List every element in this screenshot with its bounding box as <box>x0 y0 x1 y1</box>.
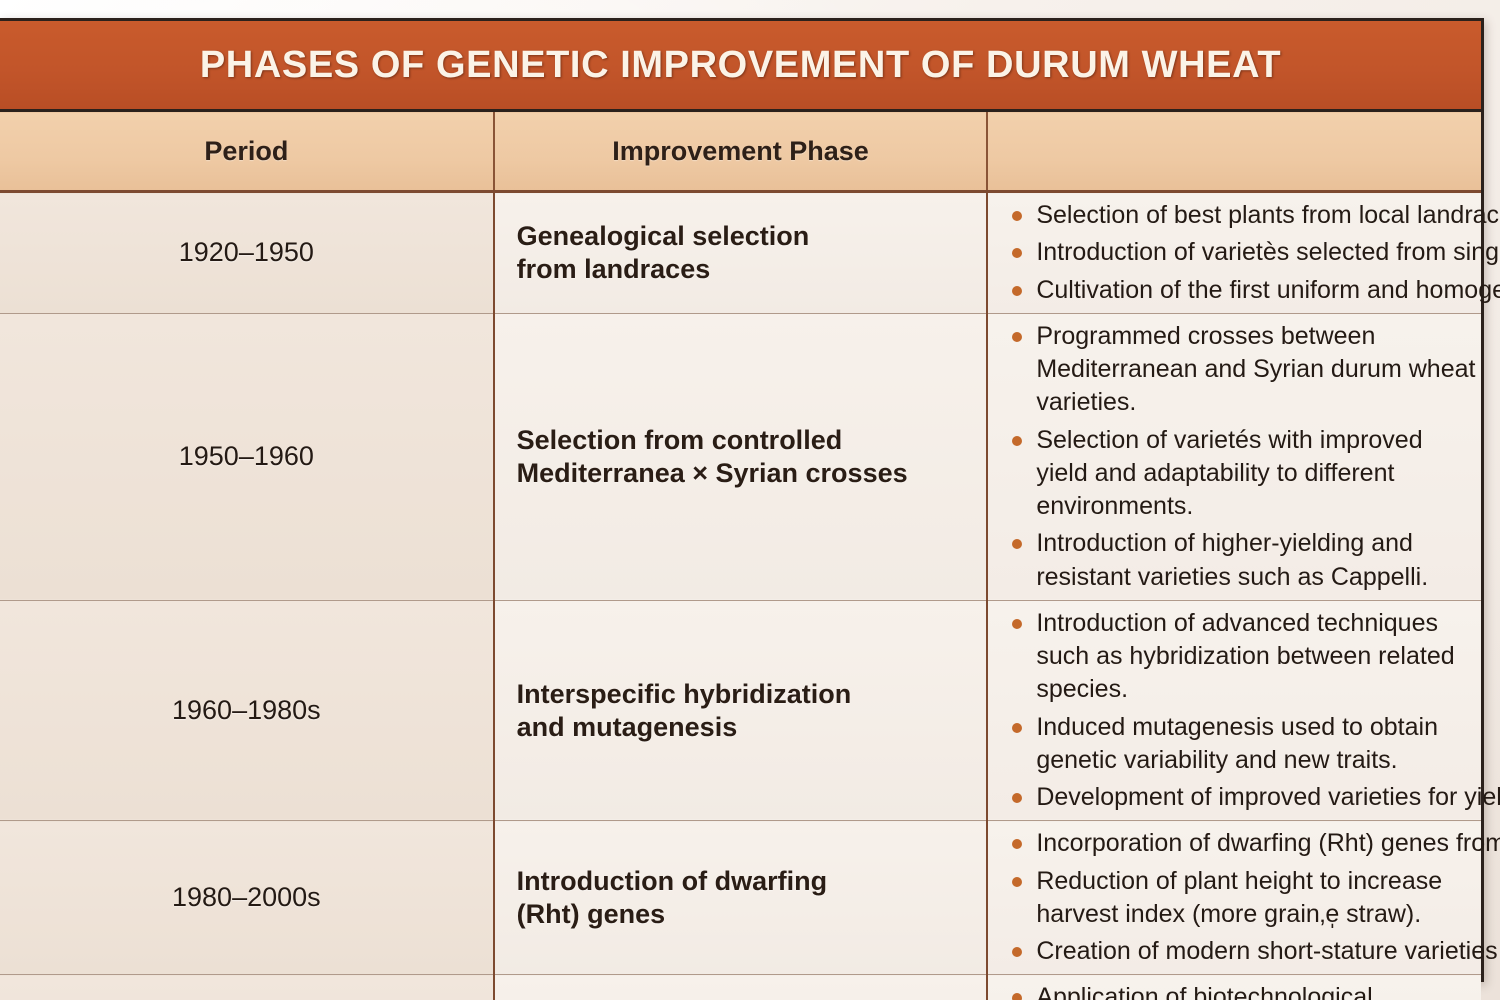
page-title: PHASES OF GENETIC IMPROVEMENT OF DURUM W… <box>10 44 1471 87</box>
bullet-icon <box>1012 248 1022 258</box>
bullet-icon <box>1012 286 1022 296</box>
list-item-text: Creation of modern short-stature varieti… <box>1036 937 1500 965</box>
period-value: 1950–1960 <box>179 441 314 471</box>
details-cell: Introduction of advanced techniques such… <box>987 600 1481 821</box>
list-item: Cultivation of the first uniform and hom… <box>1006 274 1477 307</box>
period-value: 1960–1980s <box>172 695 321 725</box>
list-item: Introduction of higher-yielding and resi… <box>1006 527 1477 594</box>
table-row: 1950–1960Selection from controlledMedite… <box>0 313 1481 600</box>
phase-value: Introduction of dwarfing(Rht) genes <box>517 865 977 931</box>
list-item-text: Induced mutagenesis used to obtain genet… <box>1036 713 1438 774</box>
period-cell: 1950–1960 <box>0 313 494 600</box>
list-item: Incorporation of dwarfing (Rht) genes fr… <box>1006 827 1477 860</box>
list-item-text: Selection of best plants from local land… <box>1036 201 1500 229</box>
bullet-icon <box>1012 839 1022 849</box>
list-item-text: Cultivation of the first uniform and hom… <box>1036 276 1500 304</box>
list-item-text: Application of biotechnological technolo… <box>1036 983 1458 1000</box>
bullet-icon <box>1012 793 1022 803</box>
list-item: Introduction of varietès selected from s… <box>1006 236 1477 269</box>
column-header-phase: Improvement Phase <box>494 111 988 192</box>
list-item: Programmed crosses between Mediterranean… <box>1006 320 1477 420</box>
list-item: Introduction of advanced techniques such… <box>1006 607 1477 707</box>
phase-cell: Selection from controlledMediterranea × … <box>494 313 988 600</box>
bullet-icon <box>1012 332 1022 342</box>
details-list: Introduction of advanced techniques such… <box>1006 607 1477 815</box>
list-item-text: Introduction of varietès selected from s… <box>1036 238 1500 266</box>
list-item: Creation of modern short-stature varieti… <box>1006 935 1477 968</box>
phase-cell: Biotechnological innovationsand germplas… <box>494 975 988 1000</box>
bullet-icon <box>1012 723 1022 733</box>
details-list: Programmed crosses between Mediterranean… <box>1006 320 1477 594</box>
details-cell: Incorporation of dwarfing (Rht) genes fr… <box>987 821 1481 975</box>
list-item: Induced mutagenesis used to obtain genet… <box>1006 711 1477 778</box>
list-item: Selection of best plants from local land… <box>1006 199 1477 232</box>
list-item-text: Reduction of plant height to increase ha… <box>1036 867 1442 928</box>
period-value: 1920–1950 <box>179 237 314 267</box>
column-header-row: Period Improvement Phase <box>0 111 1481 192</box>
bullet-icon <box>1012 539 1022 549</box>
period-cell: 1980–2000s <box>0 975 494 1000</box>
period-value: 1980–2000s <box>172 882 321 912</box>
table-title-cell: PHASES OF GENETIC IMPROVEMENT OF DURUM W… <box>0 21 1481 111</box>
phases-table: PHASES OF GENETIC IMPROVEMENT OF DURUM W… <box>0 21 1481 1000</box>
list-item-text: Introduction of advanced techniques such… <box>1036 609 1454 704</box>
table-row: 1980–2000sIntroduction of dwarfing(Rht) … <box>0 821 1481 975</box>
phase-value: Interspecific hybridizationand mutagenes… <box>517 678 977 744</box>
table-row: 1920–1950Genealogical selectionfrom land… <box>0 192 1481 314</box>
list-item: Application of biotechnological technolo… <box>1006 981 1477 1000</box>
column-header-period: Period <box>0 111 494 192</box>
bullet-icon <box>1012 436 1022 446</box>
details-list: Application of biotechnological technolo… <box>1006 981 1477 1000</box>
details-list: Selection of best plants from local land… <box>1006 199 1477 307</box>
bullet-icon <box>1012 877 1022 887</box>
list-item-text: Introduction of higher-yielding and resi… <box>1036 529 1428 590</box>
column-header-phase-label: Improvement Phase <box>612 136 869 166</box>
bullet-icon <box>1012 211 1022 221</box>
phase-cell: Genealogical selectionfrom landraces <box>494 192 988 314</box>
phase-value: Selection from controlledMediterranea × … <box>517 424 977 490</box>
title-row: PHASES OF GENETIC IMPROVEMENT OF DURUM W… <box>0 21 1481 111</box>
phases-table-container: PHASES OF GENETIC IMPROVEMENT OF DURUM W… <box>0 18 1484 982</box>
details-list: Incorporation of dwarfing (Rht) genes fr… <box>1006 827 1477 968</box>
list-item-text: Programmed crosses between Mediterranean… <box>1036 322 1475 417</box>
period-cell: 1920–1950 <box>0 192 494 314</box>
page-canvas: PHASES OF GENETIC IMPROVEMENT OF DURUM W… <box>0 0 1500 1000</box>
table-row: 1960–1980sInterspecific hybridizationand… <box>0 600 1481 821</box>
bullet-icon <box>1012 619 1022 629</box>
list-item-text: Incorporation of dwarfing (Rht) genes fr… <box>1036 829 1500 857</box>
phase-cell: Introduction of dwarfing(Rht) genes <box>494 821 988 975</box>
table-row: 1980–2000sBiotechnological innovationsan… <box>0 975 1481 1000</box>
bullet-icon <box>1012 947 1022 957</box>
list-item-text: Selection of varietés with improved yiel… <box>1036 426 1422 521</box>
details-cell: Programmed crosses between Mediterranean… <box>987 313 1481 600</box>
list-item: Reduction of plant height to increase ha… <box>1006 865 1477 932</box>
column-header-period-label: Period <box>204 136 288 166</box>
list-item: Development of improved varieties for yi… <box>1006 781 1477 814</box>
phase-value: Genealogical selectionfrom landraces <box>517 220 977 286</box>
list-item: Selection of varietés with improved yiel… <box>1006 424 1477 524</box>
details-cell: Selection of best plants from local land… <box>987 192 1481 314</box>
details-cell: Application of biotechnological technolo… <box>987 975 1481 1000</box>
phase-cell: Interspecific hybridizationand mutagenes… <box>494 600 988 821</box>
list-item-text: Development of improved varieties for yi… <box>1036 783 1500 811</box>
table-body: PHASES OF GENETIC IMPROVEMENT OF DURUM W… <box>0 21 1481 1000</box>
column-header-details <box>987 111 1481 192</box>
period-cell: 1980–2000s <box>0 821 494 975</box>
bullet-icon <box>1012 993 1022 1000</box>
period-cell: 1960–1980s <box>0 600 494 821</box>
